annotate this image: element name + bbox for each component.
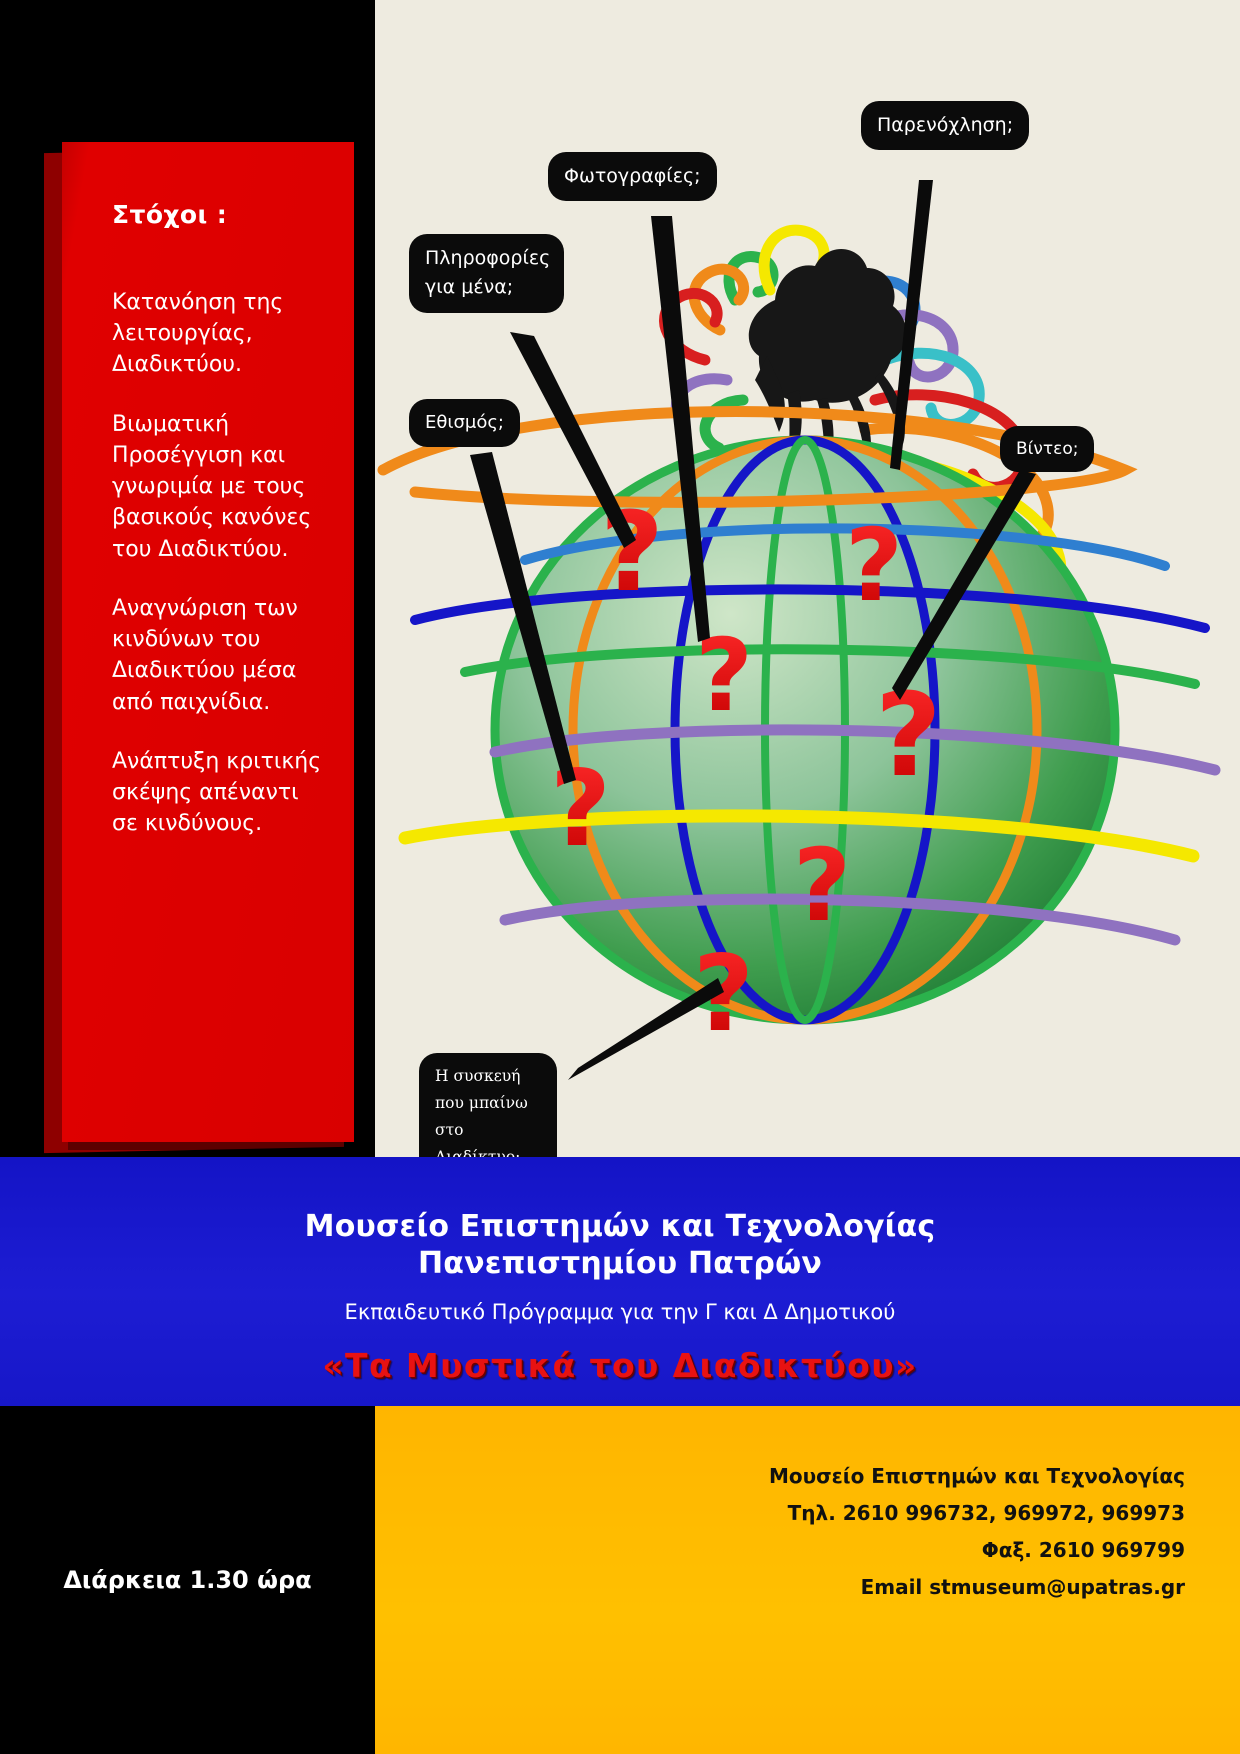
- leader-ethismos: [470, 452, 576, 784]
- bubble-ethismos: Εθισμός;: [409, 399, 520, 447]
- leader-siskevi: [568, 978, 724, 1080]
- contact-fax: Φαξ. 2610 969799: [375, 1532, 1185, 1569]
- bubble-plirofories: Πληροφορίες για μένα;: [409, 234, 564, 313]
- blue-footer-band: Μουσείο Επιστημών και Τεχνολογίας Πανεπι…: [0, 1157, 1240, 1406]
- poster-title: «Τα Μυστικά του Διαδικτύου»: [0, 1346, 1240, 1385]
- contact-name: Μουσείο Επιστημών και Τεχνολογίας: [375, 1458, 1185, 1495]
- bubble-parenohlisi: Παρενόχληση;: [861, 101, 1029, 150]
- poster-root: ? ? ? ? ? ? ? Στόχοι : Κατανόηση της λει…: [0, 0, 1240, 1754]
- contact-phone: Τηλ. 2610 996732, 969972, 969973: [375, 1495, 1185, 1532]
- contact-box: Μουσείο Επιστημών και Τεχνολογίας Τηλ. 2…: [375, 1406, 1240, 1754]
- bubble-vinteo: Βίντεο;: [1000, 426, 1094, 472]
- bubble-fotografies: Φωτογραφίες;: [548, 152, 717, 201]
- program-line: Εκπαιδευτικό Πρόγραμμα για την Γ και Δ Δ…: [0, 1300, 1240, 1324]
- leader-parenohlisi: [890, 180, 933, 470]
- leader-vinteo: [892, 470, 1036, 700]
- leader-fotografies: [651, 216, 710, 642]
- museum-name: Μουσείο Επιστημών και Τεχνολογίας Πανεπι…: [0, 1157, 1240, 1282]
- museum-name-line1: Μουσείο Επιστημών και Τεχνολογίας: [0, 1209, 1240, 1246]
- duration-label: Διάρκεια 1.30 ώρα: [0, 1406, 375, 1754]
- contact-details: Μουσείο Επιστημών και Τεχνολογίας Τηλ. 2…: [375, 1406, 1240, 1606]
- museum-name-line2: Πανεπιστημίου Πατρών: [0, 1246, 1240, 1283]
- contact-email: Email stmuseum@upatras.gr: [375, 1569, 1185, 1606]
- leader-plirofories: [510, 332, 636, 548]
